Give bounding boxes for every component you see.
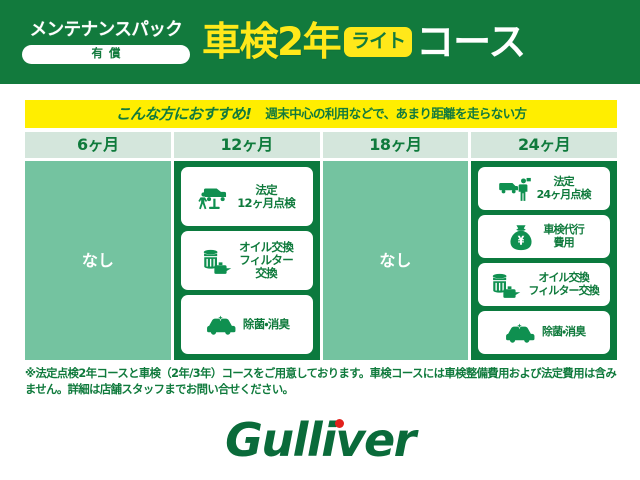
oil-filter-change-icon — [200, 246, 234, 276]
plan-column-header: 12ヶ月 — [174, 132, 320, 158]
service-card-label: 除菌・消臭 — [243, 318, 289, 331]
gulliver-logo: Gulliver — [225, 417, 415, 463]
footnote-text: ※法定点検2年コースと車検（2年/3年）コースをご用意しております。車検コースに… — [25, 366, 620, 399]
plan-column-body: なし — [25, 161, 171, 360]
service-card: 除菌・消臭 — [181, 295, 313, 354]
service-card: オイル交換 フィルター 交換 — [181, 231, 313, 290]
plan-column-header-label: 24ヶ月 — [518, 137, 570, 153]
gulliver-logo-text: Gulliver — [225, 413, 415, 467]
service-card: 法定 24ヶ月点検 — [478, 167, 610, 210]
plan-none-label: なし — [379, 253, 411, 269]
service-card-label: 車検代行 費用 — [543, 224, 583, 249]
recommend-lead-text: こんな方におすすめ! — [116, 107, 252, 122]
service-card: 除菌・消臭 — [478, 311, 610, 354]
header-banner: メンテナンスパック 有償 車検2年 ライト コース — [0, 0, 640, 84]
course-label: コース — [416, 23, 525, 61]
maintenance-pack-group: メンテナンスパック 有償 — [22, 20, 190, 63]
plan-column-body: なし — [323, 161, 469, 360]
plan-column-header-label: 12ヶ月 — [220, 137, 272, 153]
service-card: 車検代行 費用 — [478, 215, 610, 258]
service-card: 法定 12ヶ月点検 — [181, 167, 313, 226]
car-lift-inspection-icon — [198, 182, 232, 212]
recommend-bar: こんな方におすすめ! 週末中心の利用などで、あまり距離を走らない方 — [25, 100, 617, 128]
plan-column-header-label: 18ヶ月 — [369, 137, 421, 153]
shaken-2year-label: 車検2年 — [202, 23, 340, 62]
plan-none-label: なし — [82, 253, 114, 269]
paid-badge: 有償 — [22, 45, 190, 64]
plan-column-header: 6ヶ月 — [25, 132, 171, 158]
plan-column-body: 法定 24ヶ月点検車検代行 費用オイル交換 フィルター交換除菌・消臭 — [471, 161, 617, 360]
plan-column-body: 法定 12ヶ月点検オイル交換 フィルター 交換除菌・消臭 — [174, 161, 320, 360]
plan-column-6ヶ月: 6ヶ月なし — [25, 132, 171, 360]
advertisement-page: メンテナンスパック 有償 車検2年 ライト コース こんな方におすすめ! 週末中… — [0, 0, 640, 480]
plan-column-12ヶ月: 12ヶ月法定 12ヶ月点検オイル交換 フィルター 交換除菌・消臭 — [174, 132, 320, 360]
plan-column-header: 24ヶ月 — [471, 132, 617, 158]
paid-badge-label: 有償 — [86, 48, 127, 60]
course-title-group: 車検2年 ライト コース — [202, 23, 626, 62]
oil-filter-change-icon — [489, 270, 523, 300]
plan-column-18ヶ月: 18ヶ月なし — [323, 132, 469, 360]
maintenance-pack-title: メンテナンスパック — [30, 20, 183, 40]
plan-column-header-label: 6ヶ月 — [77, 137, 119, 153]
service-card-label: 法定 24ヶ月点検 — [537, 176, 591, 201]
car-sanitize-icon — [503, 318, 537, 348]
brand-logo-area: Gulliver — [0, 414, 640, 466]
service-card: オイル交換 フィルター交換 — [478, 263, 610, 306]
recommend-description-text: 週末中心の利用などで、あまり距離を走らない方 — [265, 108, 526, 121]
service-card-label: 除菌・消臭 — [542, 326, 585, 338]
plan-column-header: 18ヶ月 — [323, 132, 469, 158]
money-bag-yen-icon — [504, 222, 538, 252]
plan-column-24ヶ月: 24ヶ月法定 24ヶ月点検車検代行 費用オイル交換 フィルター交換除菌・消臭 — [471, 132, 617, 360]
service-card-label: オイル交換 フィルター交換 — [528, 272, 598, 297]
service-card-label: 法定 12ヶ月点検 — [237, 184, 295, 210]
service-card-label: オイル交換 フィルター 交換 — [239, 241, 293, 280]
car-sanitize-icon — [204, 310, 238, 340]
car-inspection-staff-icon — [498, 174, 532, 204]
light-badge: ライト — [344, 27, 412, 57]
maintenance-plan-table: 6ヶ月なし12ヶ月法定 12ヶ月点検オイル交換 フィルター 交換除菌・消臭18ヶ… — [25, 132, 617, 360]
